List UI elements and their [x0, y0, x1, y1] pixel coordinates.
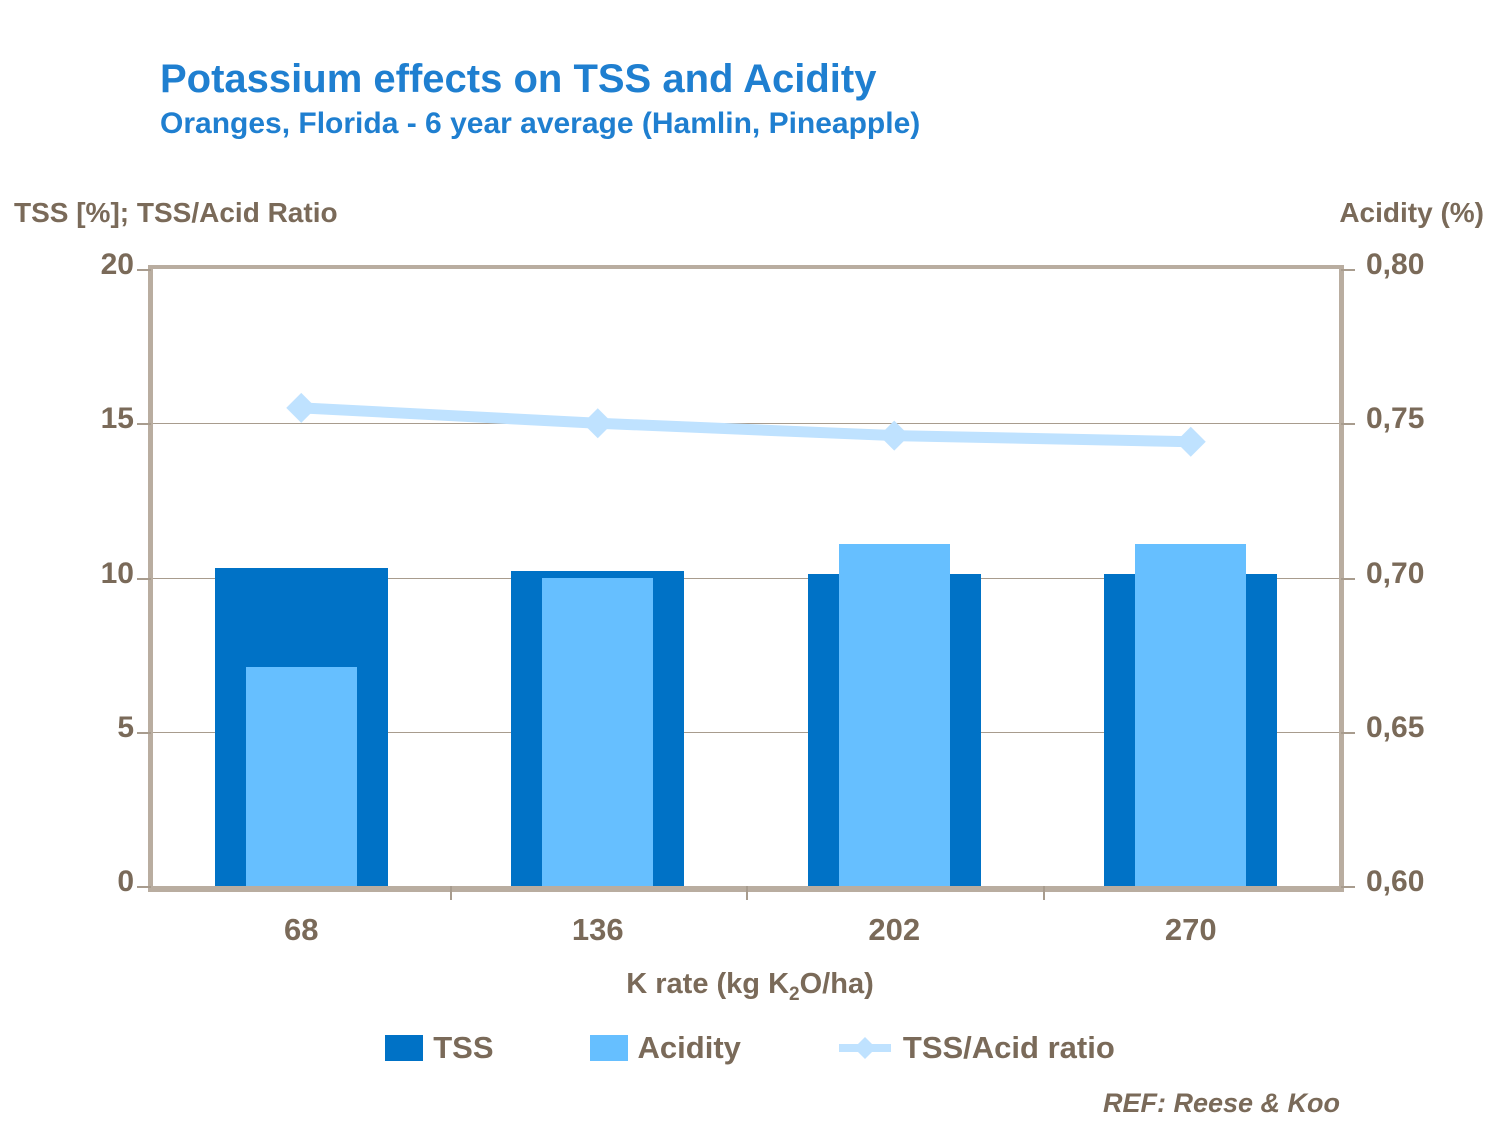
reference-note: REF: Reese & Koo: [1103, 1088, 1340, 1119]
legend-swatch-icon: [385, 1035, 423, 1061]
x-axis-tick-label: 202: [868, 912, 920, 948]
x-axis-tick: [1043, 886, 1045, 900]
left-axis-tick-label: 5: [117, 711, 134, 745]
right-axis-tick-label: 0,70: [1366, 557, 1424, 591]
legend-line-marker-icon: [837, 1035, 893, 1061]
x-axis-tick-label: 68: [284, 912, 318, 948]
ratio-line: [301, 408, 1191, 442]
right-axis-tick: [1341, 578, 1355, 580]
ratio-line-marker-diamond-icon: [1176, 427, 1206, 457]
left-axis-tick-label: 15: [101, 402, 134, 436]
left-axis-tick: [137, 732, 151, 734]
right-axis-tick: [1341, 886, 1355, 888]
right-axis-tick-label: 0,80: [1366, 248, 1424, 282]
legend-label: Acidity: [638, 1030, 741, 1066]
plot-area: [148, 265, 1344, 892]
right-axis-tick-label: 0,65: [1366, 711, 1424, 745]
legend-item[interactable]: TSS: [385, 1030, 493, 1066]
left-axis-tick-label: 10: [101, 557, 134, 591]
left-axis-tick-label: 0: [117, 865, 134, 899]
left-axis-tick: [137, 886, 151, 888]
chart-legend: TSSAcidityTSS/Acid ratio: [0, 1030, 1500, 1066]
right-axis-tick: [1341, 269, 1355, 271]
left-axis-tick: [137, 423, 151, 425]
left-axis-tick-label: 20: [101, 248, 134, 282]
left-axis-tick: [137, 578, 151, 580]
ratio-line-marker-diamond-icon: [879, 421, 909, 451]
ratio-line-series: [153, 269, 1339, 886]
left-axis-tick: [137, 269, 151, 271]
legend-item[interactable]: Acidity: [590, 1030, 741, 1066]
right-axis-tick: [1341, 732, 1355, 734]
x-axis-tick: [450, 886, 452, 900]
legend-label: TSS/Acid ratio: [903, 1030, 1115, 1066]
ratio-line-marker-diamond-icon: [583, 408, 613, 438]
legend-swatch-icon: [590, 1035, 628, 1061]
right-axis-tick-label: 0,75: [1366, 402, 1424, 436]
legend-label: TSS: [433, 1030, 493, 1066]
x-axis-tick-label: 136: [572, 912, 624, 948]
right-axis-tick-label: 0,60: [1366, 865, 1424, 899]
legend-item[interactable]: TSS/Acid ratio: [837, 1030, 1115, 1066]
ratio-line-marker-diamond-icon: [286, 393, 316, 423]
x-axis-tick: [746, 886, 748, 900]
chart-canvas: 05101520 0,600,650,700,750,80 6813620227…: [0, 0, 1500, 1127]
right-axis-tick: [1341, 423, 1355, 425]
x-axis-tick-label: 270: [1165, 912, 1217, 948]
